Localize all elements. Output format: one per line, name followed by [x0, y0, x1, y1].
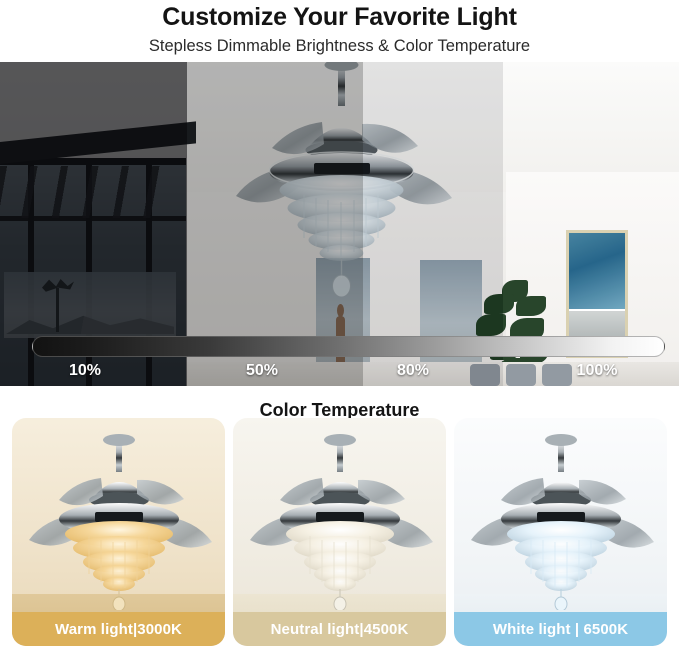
- white-light-caption: White light | 6500K: [454, 612, 667, 646]
- wall-art-upper: [569, 233, 625, 309]
- neutral-light-card[interactable]: Neutral light|4500K: [233, 418, 446, 646]
- hero-dimming-image: 10% 50% 80% 100%: [0, 62, 679, 386]
- page-subtitle: Stepless Dimmable Brightness & Color Tem…: [0, 34, 679, 58]
- fan-warm: [21, 424, 217, 615]
- slider-tick-100: 100%: [577, 362, 618, 380]
- page-title: Customize Your Favorite Light: [0, 2, 679, 32]
- slider-tick-50: 50%: [246, 362, 278, 380]
- infographic-page: Customize Your Favorite Light Stepless D…: [0, 0, 679, 646]
- white-light-card[interactable]: White light | 6500K: [454, 418, 667, 646]
- fan-white: [463, 424, 659, 615]
- fan-neutral: [242, 424, 438, 615]
- fan-illustration: [226, 62, 456, 322]
- slider-tick-80: 80%: [397, 362, 429, 380]
- brightness-slider-track[interactable]: [32, 336, 665, 357]
- header: Customize Your Favorite Light Stepless D…: [0, 0, 679, 58]
- neutral-light-caption: Neutral light|4500K: [233, 612, 446, 646]
- palm-tree: [56, 288, 59, 332]
- slider-tick-10: 10%: [69, 362, 101, 380]
- ceiling-fan-chandelier: [226, 62, 456, 322]
- brightness-slider[interactable]: 10% 50% 80% 100%: [0, 336, 679, 386]
- warm-light-caption: Warm light|3000K: [12, 612, 225, 646]
- pergola-slats: [0, 166, 170, 218]
- warm-light-card[interactable]: Warm light|3000K: [12, 418, 225, 646]
- color-temperature-cards: Warm light|3000K: [12, 418, 667, 646]
